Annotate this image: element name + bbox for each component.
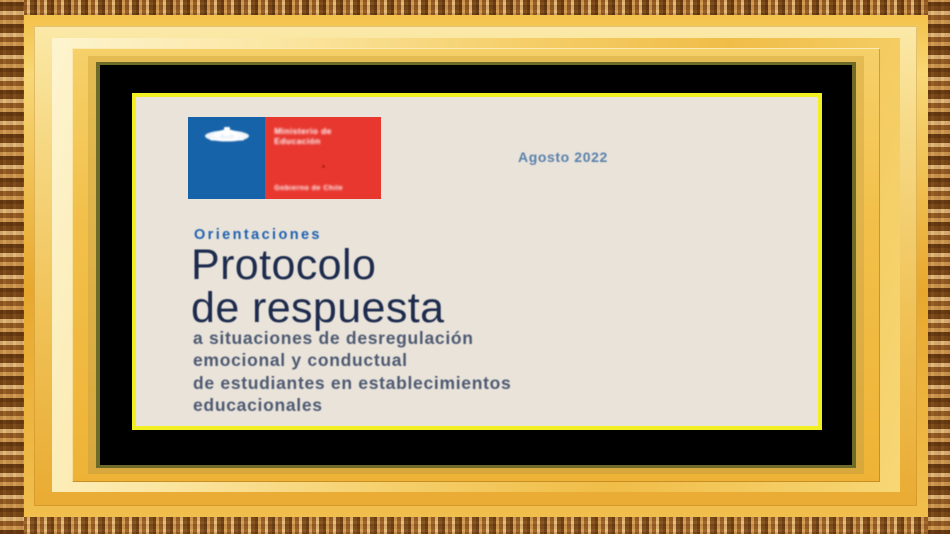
subtitle-line-2: emocional y conductual	[193, 349, 511, 371]
title-line-1: Protocolo	[191, 244, 444, 287]
frame-texture-left-edge	[0, 0, 24, 534]
document-title: Protocolo de respuesta	[191, 244, 444, 329]
logo-government-line: Gobierno de Chile	[274, 185, 343, 192]
logo-blue-panel	[188, 117, 265, 199]
mineduc-logo: Ministerio de Educación Gobierno de Chil…	[188, 117, 381, 199]
logo-red-panel: Ministerio de Educación Gobierno de Chil…	[265, 117, 381, 199]
frame-texture-right-edge	[928, 0, 950, 534]
logo-ministry-line-1: Ministerio de	[274, 126, 332, 136]
chile-coat-of-arms-emblem	[200, 123, 254, 147]
frame-texture-bottom-edge	[0, 517, 950, 534]
logo-ministry-line-2: Educación	[274, 136, 321, 146]
document-subtitle: a situaciones de desregulación emocional…	[193, 327, 511, 417]
document-accent-border: Ministerio de Educación Gobierno de Chil…	[132, 93, 822, 430]
document-page: Ministerio de Educación Gobierno de Chil…	[136, 97, 818, 426]
logo-decorative-dot	[322, 165, 325, 168]
subtitle-line-3: de estudiantes en establecimientos	[193, 372, 511, 394]
subtitle-line-1: a situaciones de desregulación	[193, 327, 511, 349]
frame-texture-top-edge	[0, 0, 950, 15]
title-line-2: de respuesta	[191, 287, 444, 330]
document-issue-date: Agosto 2022	[518, 149, 608, 165]
subtitle-line-4: educacionales	[193, 394, 511, 416]
picture-frame-root: Ministerio de Educación Gobierno de Chil…	[0, 0, 950, 534]
